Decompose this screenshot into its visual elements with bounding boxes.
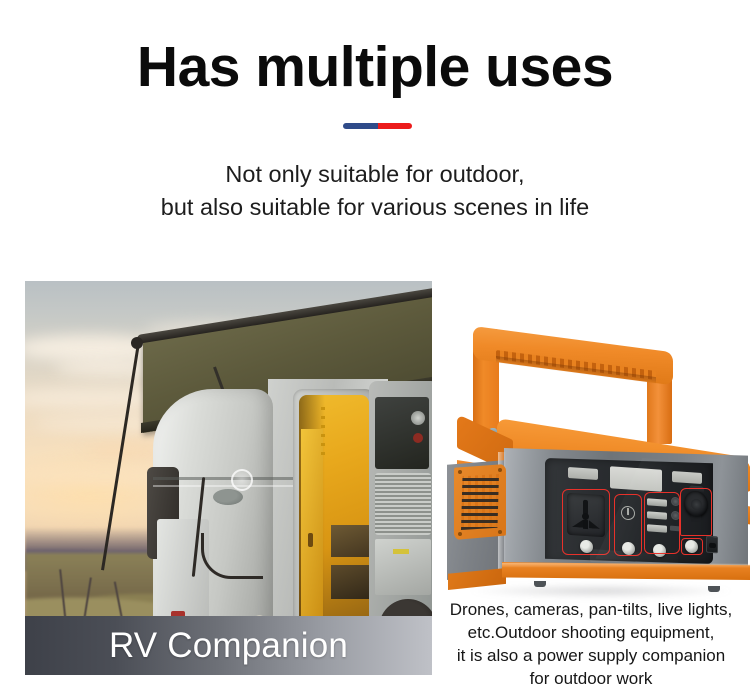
product-caption: Drones, cameras, pan-tilts, live lights,… xyxy=(432,598,750,690)
rv-companion-banner-label: RV Companion xyxy=(109,626,348,666)
rv-appliance-label xyxy=(393,549,409,554)
ac-outlet-slot-right xyxy=(589,520,600,529)
aux-input-port[interactable] xyxy=(706,536,718,554)
divider-red-half xyxy=(378,123,413,129)
rv-appliance-grille xyxy=(375,473,431,535)
battery-level-indicator xyxy=(670,526,681,532)
lcd-display xyxy=(610,466,662,492)
subtitle: Not only suitable for outdoor, but also … xyxy=(0,158,750,225)
rv-door-rivets xyxy=(321,407,325,459)
vent-screw xyxy=(498,530,502,534)
rv-appliance-lower-panel xyxy=(375,539,431,595)
promo-page: Has multiple uses Not only suitable for … xyxy=(0,0,750,697)
usb-port[interactable] xyxy=(647,511,667,519)
rv-door-handle xyxy=(308,533,313,547)
rv-appliance-knob xyxy=(411,411,425,425)
ventilation-grille-slots xyxy=(461,474,499,530)
rv-companion-banner: RV Companion xyxy=(25,616,432,675)
rubber-foot xyxy=(708,586,720,592)
rv-awning-arm-knob xyxy=(131,337,143,349)
rv-door-panel xyxy=(301,429,323,633)
rv-porch-light xyxy=(231,469,253,491)
dc-socket-base xyxy=(691,514,701,523)
usb-port[interactable] xyxy=(647,498,667,506)
lcd-display-left xyxy=(568,467,598,480)
universal-ac-outlet[interactable] xyxy=(567,493,605,538)
vent-screw xyxy=(458,532,462,536)
dc-power-button[interactable] xyxy=(685,540,698,554)
product-drop-shadow xyxy=(470,584,732,598)
divider-blue-half xyxy=(343,123,378,129)
subtitle-line-2: but also suitable for various scenes in … xyxy=(0,191,750,224)
page-title: Has multiple uses xyxy=(0,38,750,98)
ac-outlet-slot-center xyxy=(583,520,588,529)
rv-interior-shelf xyxy=(331,525,369,557)
caption-line-2: etc.Outdoor shooting equipment, xyxy=(432,621,750,644)
ac-outlet-slot-left xyxy=(572,519,583,528)
status-led xyxy=(671,497,680,507)
power-icon xyxy=(621,506,635,521)
status-led xyxy=(671,511,680,521)
rubber-foot xyxy=(534,581,546,587)
subtitle-line-1: Not only suitable for outdoor, xyxy=(225,161,524,187)
power-station-image xyxy=(440,300,750,590)
vent-screw xyxy=(498,468,502,472)
usb-port[interactable] xyxy=(647,524,667,532)
caption-line-1: Drones, cameras, pan-tilts, live lights, xyxy=(432,598,750,621)
lcd-display-right xyxy=(672,471,702,484)
title-divider xyxy=(343,123,412,129)
vent-screw xyxy=(458,470,462,474)
rv-appliance-indicator xyxy=(413,433,423,443)
caption-line-4: for outdoor work xyxy=(432,667,750,690)
rv-body-badge xyxy=(213,489,243,505)
rv-interior-shelf xyxy=(331,565,369,599)
caption-line-3: it is also a power supply companion xyxy=(432,644,750,667)
